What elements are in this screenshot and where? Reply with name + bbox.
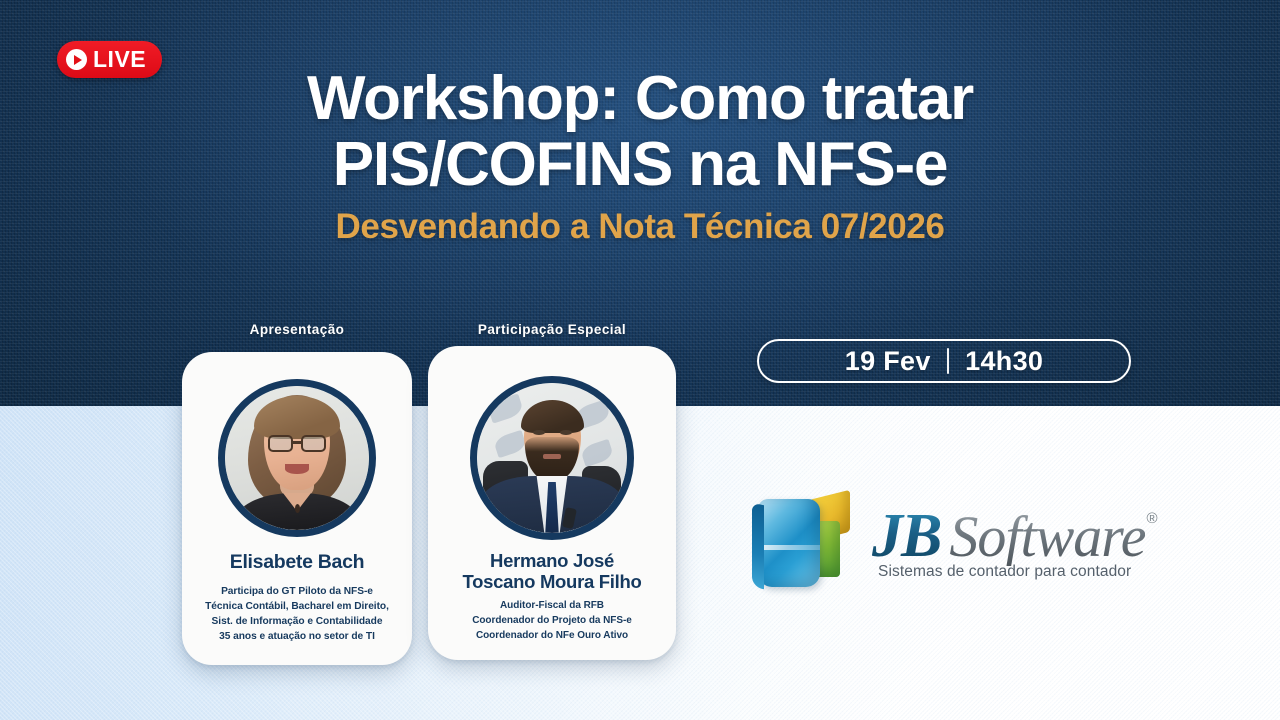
bio-line: Técnica Contábil, Bacharel em Direito,	[190, 599, 404, 614]
schedule-time: 14h30	[965, 346, 1043, 377]
brand-tagline: Sistemas de contador para contador	[878, 563, 1158, 581]
brand-name-bold: JB	[872, 505, 940, 567]
schedule-separator	[947, 348, 950, 374]
brand-name-light: Software	[949, 508, 1145, 566]
speaker-card-hermano-jose-toscano-moura-filho: Hermano José Toscano Moura Filho Auditor…	[428, 346, 676, 660]
bio-line: Coordenador do Projeto da NFS-e	[436, 614, 668, 629]
bio-line: Participa do GT Piloto da NFS-e	[190, 584, 404, 599]
speaker-name-2: Hermano José Toscano Moura Filho	[428, 551, 676, 592]
speaker-card-elisabete-bach: Elisabete Bach Participa do GT Piloto da…	[182, 352, 412, 665]
speaker-bio-1: Participa do GT Piloto da NFS-e Técnica …	[182, 584, 412, 644]
title-block: Workshop: Como tratar PIS/COFINS na NFS-…	[0, 66, 1280, 246]
speaker-name-1: Elisabete Bach	[182, 552, 412, 574]
bio-line: Auditor-Fiscal da RFB	[436, 599, 668, 614]
webinar-banner: LIVE Workshop: Como tratar PIS/COFINS na…	[0, 0, 1280, 720]
speaker-avatar-1	[218, 379, 376, 537]
jb-cube-icon	[752, 491, 864, 593]
title-line-2: PIS/COFINS na NFS-e	[0, 132, 1280, 198]
bio-line: 35 anos e atuação no setor de TI	[190, 629, 404, 644]
speaker-section-label-2: Participação Especial	[428, 322, 676, 337]
speaker-bio-2: Auditor-Fiscal da RFB Coordenador do Pro…	[428, 599, 676, 643]
live-badge[interactable]: LIVE	[57, 41, 162, 78]
title-line-1: Workshop: Como tratar	[0, 66, 1280, 132]
speaker-avatar-2	[470, 376, 634, 540]
live-badge-label: LIVE	[93, 48, 146, 71]
speaker-section-label-1: Apresentação	[183, 322, 411, 337]
jb-software-logo: JB Software ® Sistemas de contador para …	[752, 487, 1172, 597]
schedule-date: 19 Fev	[845, 346, 931, 377]
bio-line: Sist. de Informação e Contabilidade	[190, 614, 404, 629]
subtitle: Desvendando a Nota Técnica 07/2026	[0, 208, 1280, 247]
speaker-name-line: Hermano José	[428, 551, 676, 572]
speaker-name-line: Toscano Moura Filho	[428, 572, 676, 593]
schedule-badge: 19 Fev 14h30	[757, 339, 1131, 383]
registered-mark: ®	[1146, 511, 1157, 526]
play-icon	[66, 49, 87, 70]
bio-line: Coordenador do NFe Ouro Ativo	[436, 629, 668, 644]
